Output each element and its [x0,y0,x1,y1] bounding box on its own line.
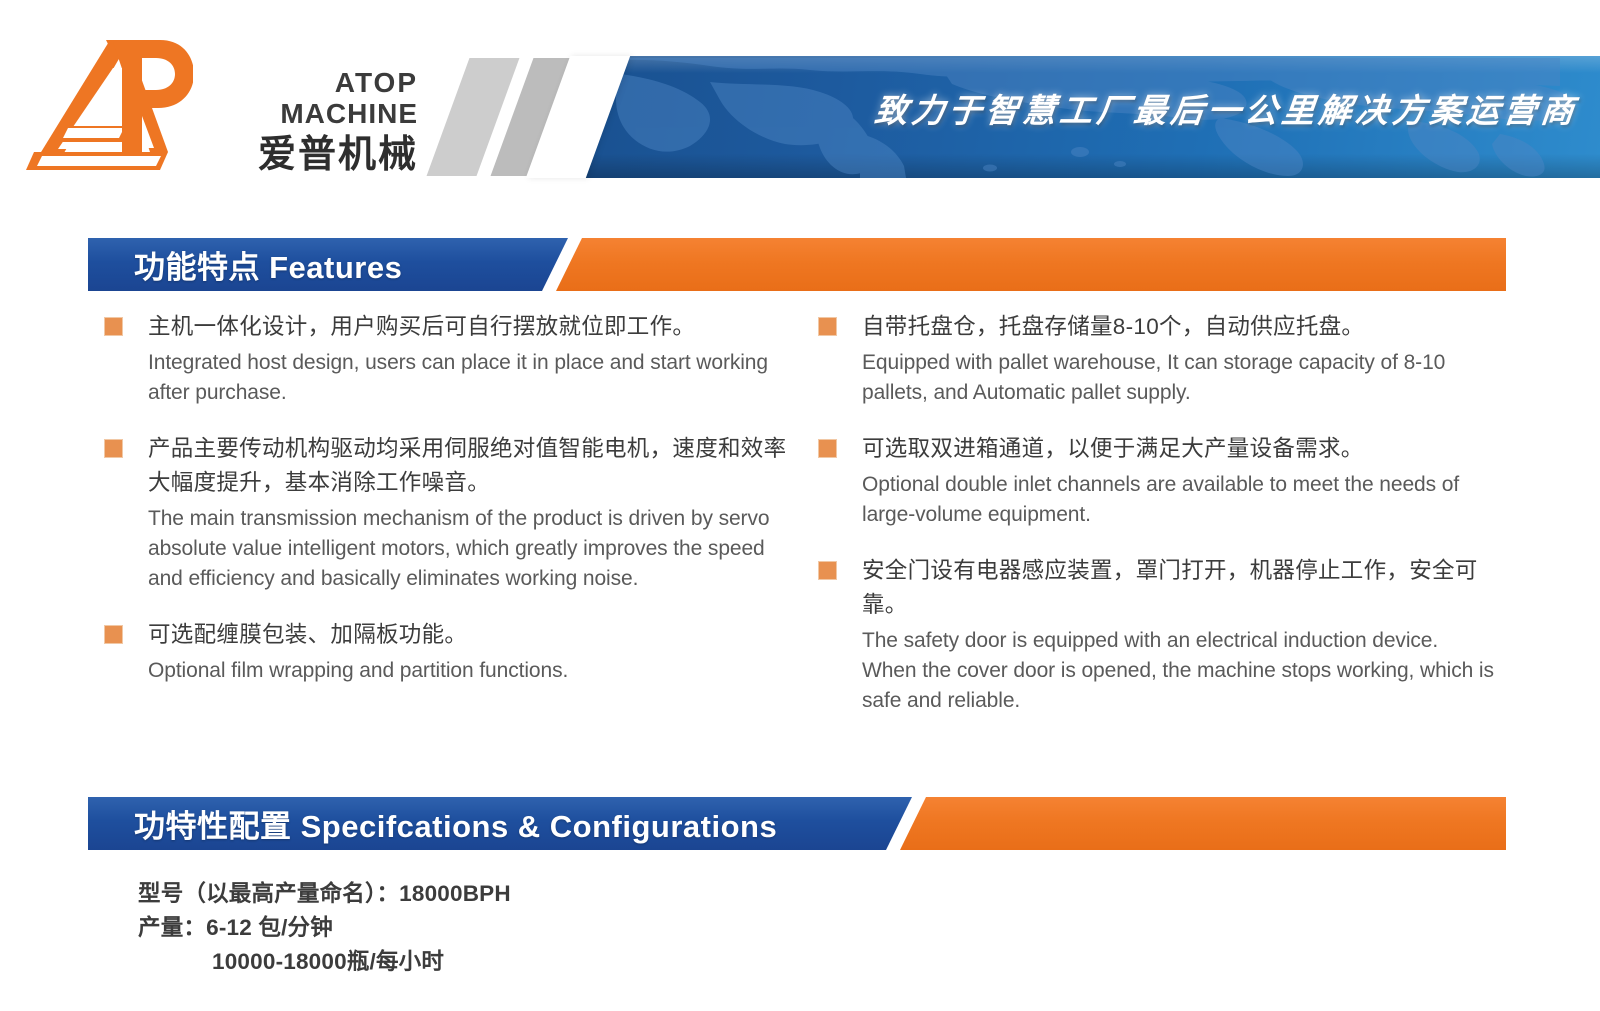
page-header: ATOP MACHINE 爱普机械 [0,0,1600,200]
feature-item: 可选取双进箱通道，以便于满足大产量设备需求。 Optional double i… [818,432,1498,530]
feature-item: 产品主要传动机构驱动均采用伺服绝对值智能电机，速度和效率大幅度提升，基本消除工作… [104,432,794,594]
orange-square-bullet-icon [818,317,837,336]
orange-square-bullet-icon [104,317,123,336]
brand-logo-block: ATOP MACHINE 爱普机械 [18,30,418,175]
feature-text-en: Optional film wrapping and partition fun… [148,656,794,686]
brand-name-en-line1: ATOP [203,68,418,98]
section-header-specifications-orange-accent [900,797,1506,850]
spec-line-model: 型号（以最高产量命名）：18000BPH [138,877,1138,911]
product-brochure-page: ATOP MACHINE 爱普机械 [0,0,1600,1011]
brand-name-en-line2: MACHINE [203,98,418,130]
section-title-cn: 功特性配置 [134,809,292,844]
section-header-features-orange-accent [556,238,1506,291]
features-right-column: 自带托盘仓，托盘存储量8-10个，自动供应托盘。 Equipped with p… [818,310,1498,740]
section-header-specifications-label: 功特性配置 Specifcations & Configurations [88,801,777,846]
orange-square-bullet-icon [104,439,123,458]
feature-item: 安全门设有电器感应装置，罩门打开，机器停止工作，安全可靠。 The safety… [818,554,1498,716]
atop-a-p-monogram-icon [18,32,193,172]
section-header-specifications: 功特性配置 Specifcations & Configurations [88,797,1506,850]
specifications-content: 型号（以最高产量命名）：18000BPH 产量：6-12 包/分钟 10000-… [138,877,1138,979]
orange-square-bullet-icon [104,625,123,644]
feature-text-en: Optional double inlet channels are avail… [862,470,1498,530]
section-header-features-blue-panel: 功能特点 Features [88,238,568,291]
feature-text-cn: 可选配缠膜包装、加隔板功能。 [148,618,794,652]
feature-text-cn: 可选取双进箱通道，以便于满足大产量设备需求。 [862,432,1498,466]
orange-square-bullet-icon [818,439,837,458]
spec-line-output: 产量：6-12 包/分钟 [138,911,1138,945]
feature-text-cn: 产品主要传动机构驱动均采用伺服绝对值智能电机，速度和效率大幅度提升，基本消除工作… [148,432,794,500]
brand-wordmark: ATOP MACHINE 爱普机械 [203,68,418,178]
section-title-en: Features [269,250,402,285]
feature-text-cn: 主机一体化设计，用户购买后可自行摆放就位即工作。 [148,310,794,344]
orange-square-bullet-icon [818,561,837,580]
brand-name-cn: 爱普机械 [203,132,418,178]
header-banner: 致力于智慧工厂最后一公里解决方案运营商 [560,56,1600,178]
feature-item: 可选配缠膜包装、加隔板功能。 Optional film wrapping an… [104,618,794,686]
feature-text-cn: 安全门设有电器感应装置，罩门打开，机器停止工作，安全可靠。 [862,554,1498,622]
section-title-en: Specifcations & Configurations [301,809,778,844]
feature-text-en: Integrated host design, users can place … [148,348,794,408]
feature-item: 主机一体化设计，用户购买后可自行摆放就位即工作。 Integrated host… [104,310,794,408]
spec-line-output-bottles: 10000-18000瓶/每小时 [138,945,1138,979]
feature-text-en: The main transmission mechanism of the p… [148,504,794,594]
features-left-column: 主机一体化设计，用户购买后可自行摆放就位即工作。 Integrated host… [104,310,794,710]
section-header-features-label: 功能特点 Features [88,242,402,287]
feature-item: 自带托盘仓，托盘存储量8-10个，自动供应托盘。 Equipped with p… [818,310,1498,408]
section-title-cn: 功能特点 [134,250,260,285]
feature-text-en: Equipped with pallet warehouse, It can s… [862,348,1498,408]
feature-text-en: The safety door is equipped with an elec… [862,626,1498,716]
feature-text-cn: 自带托盘仓，托盘存储量8-10个，自动供应托盘。 [862,310,1498,344]
section-header-features: 功能特点 Features [88,238,1506,291]
features-content: 主机一体化设计，用户购买后可自行摆放就位即工作。 Integrated host… [0,310,1600,780]
section-header-specifications-blue-panel: 功特性配置 Specifcations & Configurations [88,797,912,850]
banner-slogan: 致力于智慧工厂最后一公里解决方案运营商 [872,84,1580,132]
